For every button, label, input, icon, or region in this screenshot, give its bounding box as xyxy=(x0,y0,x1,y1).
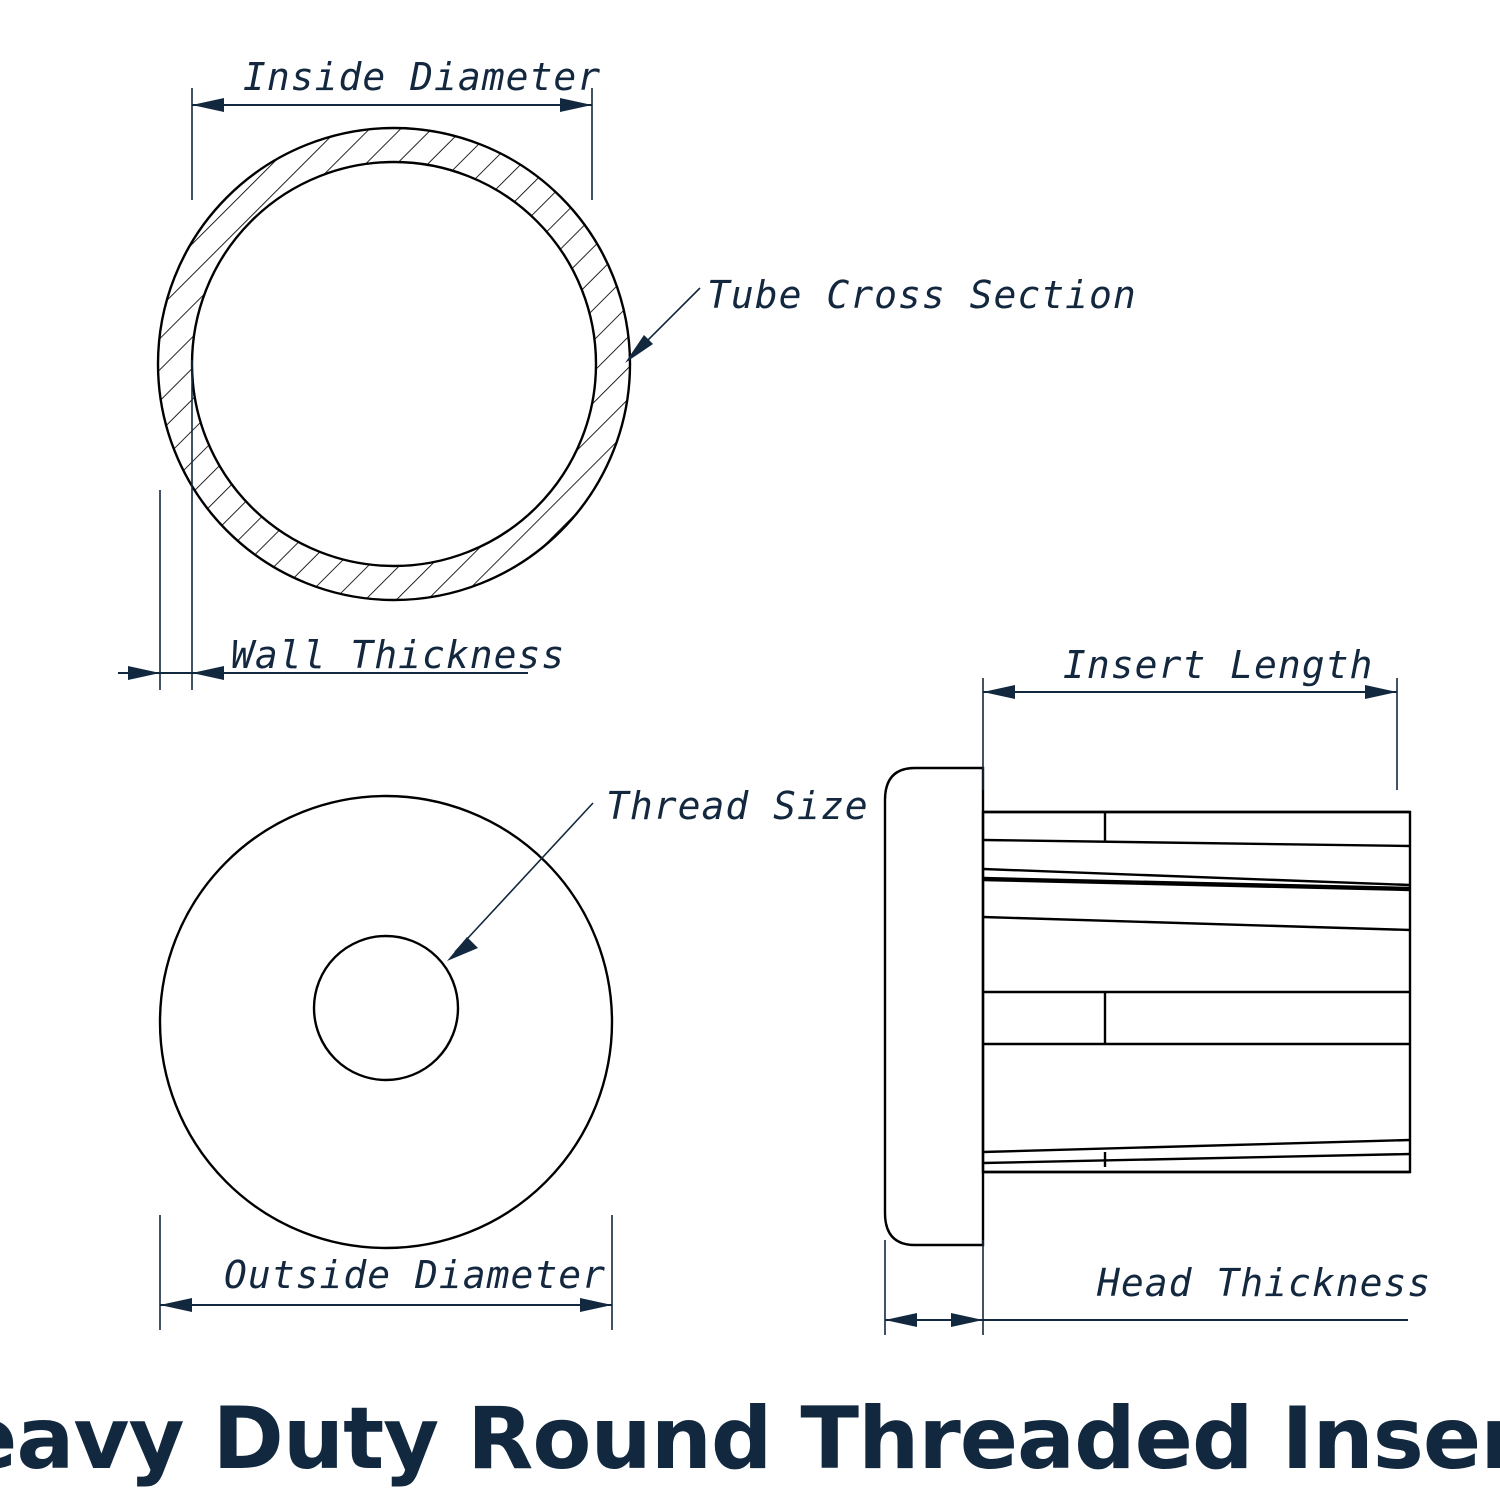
thread-size-leader-line xyxy=(455,803,593,952)
page-title: Heavy Duty Round Threaded Inserts xyxy=(0,1389,1500,1489)
label-thread-size: Thread Size xyxy=(606,784,869,828)
arrow-right-icon xyxy=(560,98,592,112)
insert-body-ribs xyxy=(983,812,1410,1172)
arrow-right-icon xyxy=(1365,685,1397,699)
insert-side-view: Insert Length Head Thickness xyxy=(885,643,1431,1335)
arrow-right-icon xyxy=(580,1298,612,1312)
arrow-left-icon xyxy=(160,1298,192,1312)
label-tube-cross-section: Tube Cross Section xyxy=(707,273,1137,317)
arrow-left-icon xyxy=(128,666,160,680)
label-inside-diameter: Inside Diameter xyxy=(243,55,601,99)
insert-head-outline xyxy=(885,768,983,1245)
arrow-right-icon xyxy=(951,1313,983,1327)
insert-length-dimension xyxy=(983,678,1397,790)
technical-drawing: Inside Diameter Wall Thickness Tube Cros… xyxy=(0,0,1500,1500)
label-insert-length: Insert Length xyxy=(1063,643,1373,687)
thread-hole-circle xyxy=(314,936,458,1080)
tube-wall-hatching xyxy=(150,120,646,616)
arrow-left-icon xyxy=(983,685,1015,699)
arrow-left-icon xyxy=(885,1313,917,1327)
tube-cross-section-view: Inside Diameter Wall Thickness Tube Cros… xyxy=(118,55,1137,690)
insert-front-view: Thread Size Outside Diameter xyxy=(160,784,869,1330)
insert-outer-circle xyxy=(160,796,612,1248)
leader-arrow-icon xyxy=(447,937,478,961)
thread-size-callout xyxy=(447,803,593,961)
diagram-canvas: Inside Diameter Wall Thickness Tube Cros… xyxy=(0,0,1500,1500)
label-outside-diameter: Outside Diameter xyxy=(224,1253,606,1297)
arrow-left-icon xyxy=(192,98,224,112)
arrow-right-icon xyxy=(192,666,224,680)
label-head-thickness: Head Thickness xyxy=(1096,1261,1431,1305)
label-wall-thickness: Wall Thickness xyxy=(231,633,565,677)
